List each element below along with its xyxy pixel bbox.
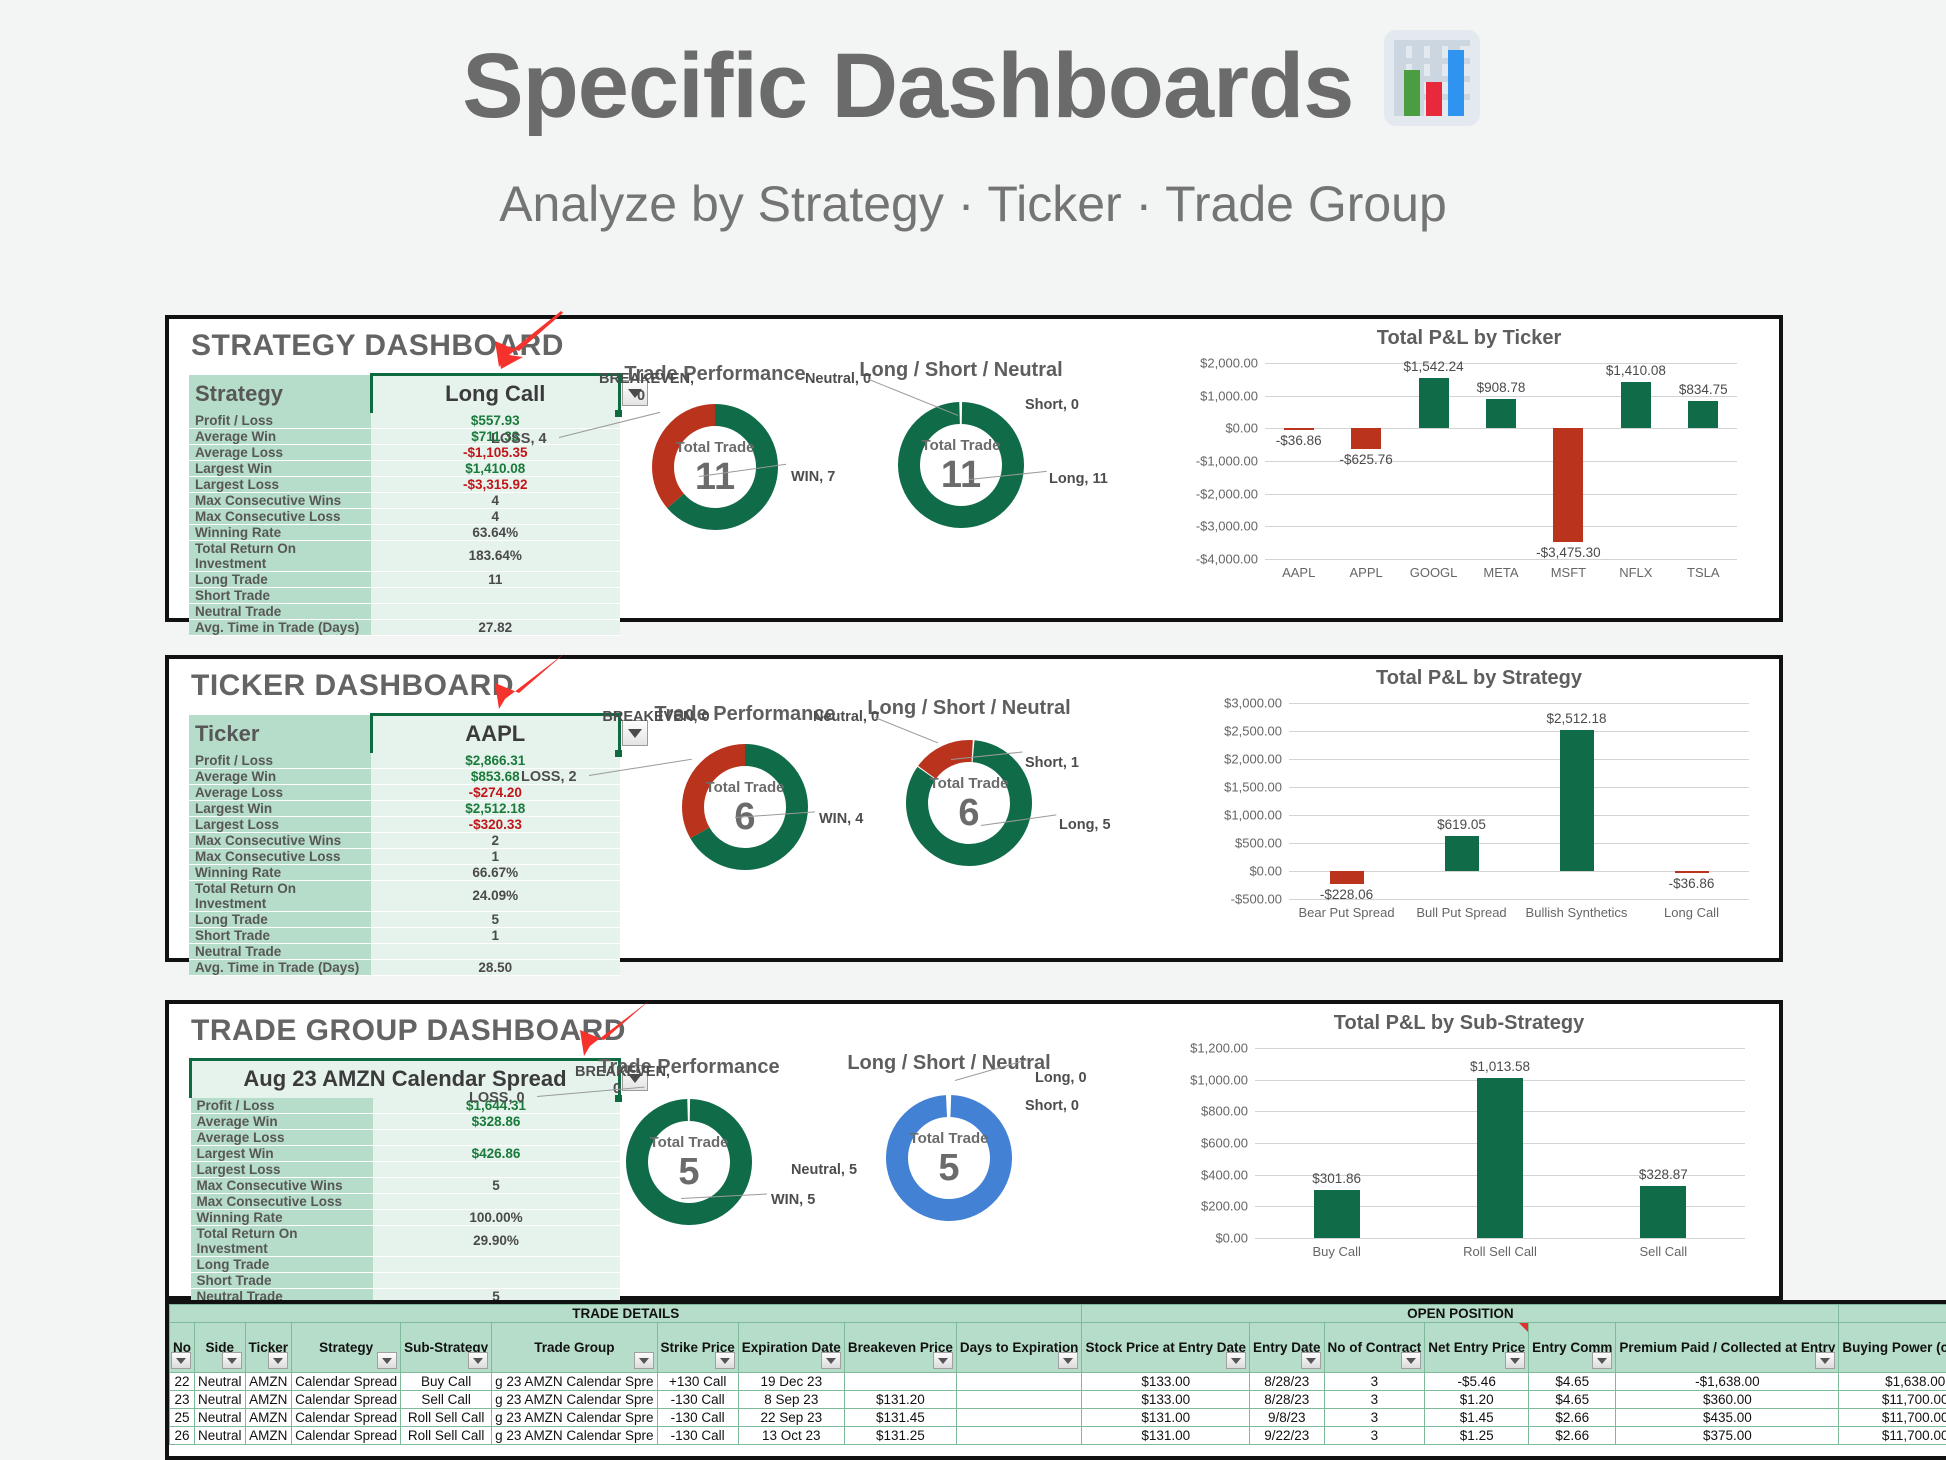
- table-row: 22NeutralAMZNCalendar SpreadBuy Callg 23…: [170, 1373, 1946, 1391]
- group-header: OPEN POSITION: [1082, 1305, 1839, 1323]
- stat-value: 29.90%: [373, 1225, 620, 1256]
- pl-by-strategy-chart: Total P&L by Strategy $3,000.00$2,500.00…: [1179, 667, 1779, 957]
- column-header-14: Net Entry Price: [1425, 1323, 1529, 1373]
- table-cell: 8 Sep 23: [738, 1391, 844, 1409]
- filter-dropdown-icon[interactable]: [171, 1352, 191, 1369]
- bar-value-label: $908.78: [1477, 380, 1526, 395]
- table-row: Average Win$711.33: [189, 428, 620, 444]
- stat-value: 4: [371, 508, 620, 524]
- table-cell: [956, 1391, 1082, 1409]
- table-row: Largest Loss-$320.33: [189, 816, 620, 832]
- table-row: Short Trade1: [189, 927, 620, 943]
- filter-dropdown-icon[interactable]: [377, 1352, 397, 1369]
- stat-value: 183.64%: [371, 540, 620, 571]
- filter-dropdown-icon[interactable]: [222, 1352, 242, 1369]
- table-row: Avg. Time in Trade (Days)28.50: [189, 959, 620, 975]
- stat-label: Largest Win: [189, 460, 371, 476]
- stat-label: Max Consecutive Wins: [189, 492, 371, 508]
- table-row: Neutral Trade: [189, 603, 620, 619]
- label-breakeven: BREAKEVEN, 0: [599, 371, 683, 404]
- stat-label: Long Trade: [191, 1256, 373, 1272]
- y-axis-tick: $0.00: [1225, 421, 1258, 436]
- table-row: Max Consecutive Wins2: [189, 832, 620, 848]
- y-axis-tick: $1,200.00: [1190, 1041, 1248, 1056]
- table-cell: $435.00: [1616, 1409, 1839, 1427]
- y-axis-tick: $0.00: [1249, 864, 1282, 879]
- table-row: Long Trade5: [189, 911, 620, 927]
- stat-value: 28.50: [371, 959, 620, 975]
- donut-center-label: Total Trade: [922, 437, 1001, 454]
- stat-value: 1: [371, 927, 620, 943]
- table-cell: 13 Oct 23: [738, 1427, 844, 1445]
- donut-center-label: Total Trade: [930, 775, 1009, 792]
- strategy-lsn-donut: Total Trade 11: [891, 395, 1031, 535]
- table-row: 23NeutralAMZNCalendar SpreadSell Callg 2…: [170, 1391, 1946, 1409]
- table-cell: Neutral: [195, 1391, 246, 1409]
- table-row: 25NeutralAMZNCalendar SpreadRoll Sell Ca…: [170, 1409, 1946, 1427]
- gridline: [1289, 759, 1749, 760]
- donut-center-value: 11: [941, 456, 981, 494]
- y-axis-tick: -$3,000.00: [1196, 519, 1258, 534]
- bar: [1486, 399, 1516, 429]
- stat-label: Total Return On Investment: [189, 540, 371, 571]
- x-axis-tick: Bear Put Spread: [1298, 905, 1394, 920]
- bar: [1314, 1190, 1360, 1238]
- column-header-17: Buying Power (capital): [1839, 1323, 1946, 1373]
- group-lsn-donut: Total Trade 5: [879, 1088, 1019, 1228]
- table-row: Total Return On Investment183.64%: [189, 540, 620, 571]
- table-cell: $131.20: [844, 1391, 956, 1409]
- chart-title: Total P&L by Ticker: [1169, 327, 1769, 350]
- stat-label: Winning Rate: [189, 864, 371, 880]
- x-axis-tick: GOOGL: [1410, 565, 1458, 580]
- stat-value: [371, 943, 620, 959]
- y-axis-tick: $400.00: [1201, 1167, 1248, 1182]
- stat-label: Avg. Time in Trade (Days): [189, 619, 371, 635]
- filter-dropdown-icon[interactable]: [1058, 1352, 1078, 1369]
- bar: [1477, 1078, 1523, 1238]
- x-axis-tick: Bull Put Spread: [1416, 905, 1506, 920]
- table-cell: g 23 AMZN Calendar Spre: [492, 1427, 657, 1445]
- x-axis-tick: TSLA: [1687, 565, 1720, 580]
- x-axis-tick: Buy Call: [1312, 1244, 1360, 1259]
- strategy-dashboard-title: STRATEGY DASHBOARD: [191, 329, 564, 363]
- filter-dropdown-icon[interactable]: [1226, 1352, 1246, 1369]
- table-row: Max Consecutive Loss1: [189, 848, 620, 864]
- stat-label: Long Trade: [189, 571, 371, 587]
- stat-label: Largest Loss: [189, 476, 371, 492]
- stat-value: 27.82: [371, 619, 620, 635]
- stat-label: Total Return On Investment: [191, 1225, 373, 1256]
- stat-value: $328.86: [373, 1113, 620, 1129]
- table-cell: $131.45: [844, 1409, 956, 1427]
- x-axis-tick: Sell Call: [1639, 1244, 1687, 1259]
- gridline: [1265, 526, 1737, 527]
- donut-center-label: Total Trade: [676, 439, 755, 456]
- stat-label: Largest Loss: [189, 816, 371, 832]
- x-axis-tick: Long Call: [1664, 905, 1719, 920]
- table-row: Average Loss-$274.20: [189, 784, 620, 800]
- stat-label: Largest Win: [191, 1145, 373, 1161]
- stat-value: 24.09%: [371, 880, 620, 911]
- table-cell: -$5.46: [1425, 1373, 1529, 1391]
- table-cell: $1.45: [1425, 1409, 1529, 1427]
- label-short: Short, 0: [1025, 1098, 1079, 1114]
- bar-value-label: -$625.76: [1339, 452, 1392, 467]
- x-axis-tick: AAPL: [1282, 565, 1315, 580]
- stat-value: [373, 1193, 620, 1209]
- label-loss: LOSS, 2: [521, 769, 577, 785]
- table-cell: -$1,638.00: [1616, 1373, 1839, 1391]
- table-row: Avg. Time in Trade (Days)27.82: [189, 619, 620, 635]
- table-cell: 3: [1324, 1427, 1425, 1445]
- trade-details-table[interactable]: TRADE DETAILSOPEN POSITIONPNoSideTickerS…: [165, 1300, 1946, 1460]
- gridline: [1255, 1238, 1745, 1239]
- label-loss: LOSS, 4: [491, 431, 547, 447]
- table-row: Largest Win$1,410.08: [189, 460, 620, 476]
- stat-value: 11: [371, 571, 620, 587]
- strategy-selector-value[interactable]: Long Call: [371, 375, 620, 413]
- stat-label: Avg. Time in Trade (Days): [189, 959, 371, 975]
- table-cell: $1,638.00: [1839, 1373, 1946, 1391]
- chart-plot-area: $2,000.00$1,000.00$0.00-$1,000.00-$2,000…: [1265, 363, 1737, 559]
- donut-center-value: 6: [958, 794, 979, 832]
- column-header-13: No of Contract: [1324, 1323, 1425, 1373]
- table-row: Long Trade: [191, 1256, 620, 1272]
- donut-center-value: 5: [678, 1153, 699, 1191]
- pl-by-ticker-chart: Total P&L by Ticker $2,000.00$1,000.00$0…: [1169, 327, 1769, 617]
- gridline: [1265, 396, 1737, 397]
- stat-value: [371, 587, 620, 603]
- table-row: Neutral Trade: [189, 943, 620, 959]
- bar-chart-icon: [1380, 26, 1484, 135]
- label-long: Long, 11: [1049, 471, 1108, 487]
- label-short: Short, 1: [1025, 755, 1079, 771]
- table-row: Short Trade: [191, 1272, 620, 1288]
- strategy-lsn-title: Long / Short / Neutral: [841, 359, 1081, 382]
- table-cell: 3: [1324, 1391, 1425, 1409]
- table-cell: 8/28/23: [1250, 1373, 1325, 1391]
- stat-value: [371, 603, 620, 619]
- bar-value-label: $301.86: [1312, 1171, 1361, 1186]
- y-axis-tick: $600.00: [1201, 1136, 1248, 1151]
- stat-label: Profit / Loss: [191, 1098, 373, 1114]
- stat-label: Largest Win: [189, 800, 371, 816]
- column-header-1: No: [170, 1323, 195, 1373]
- table-cell: [956, 1373, 1082, 1391]
- column-header-12: Entry Date: [1250, 1323, 1325, 1373]
- comment-flag-icon: [1519, 1323, 1528, 1332]
- y-axis-tick: $2,000.00: [1224, 752, 1282, 767]
- filter-dropdown-icon[interactable]: [933, 1352, 953, 1369]
- stat-label: Max Consecutive Loss: [189, 848, 371, 864]
- stat-label: Max Consecutive Loss: [191, 1193, 373, 1209]
- y-axis-tick: -$2,000.00: [1196, 486, 1258, 501]
- table-cell: $11,700.00: [1839, 1427, 1946, 1445]
- stat-label: Max Consecutive Loss: [189, 508, 371, 524]
- bar-value-label: $619.05: [1437, 817, 1486, 832]
- bar: [1560, 730, 1594, 871]
- table-row: Largest Loss-$3,315.92: [189, 476, 620, 492]
- chart-plot-area: $1,200.00$1,000.00$800.00$600.00$400.00$…: [1255, 1048, 1745, 1238]
- ticker-trade-performance-donut: Total Trade 6: [675, 737, 815, 877]
- stat-value: [373, 1129, 620, 1145]
- gridline: [1289, 787, 1749, 788]
- group-stats-table: Aug 23 AMZN Calendar Spread Profit / Los…: [189, 1058, 621, 1321]
- stat-value: $557.93: [371, 413, 620, 429]
- bar: [1675, 871, 1709, 873]
- group-lsn-title: Long / Short / Neutral: [829, 1052, 1069, 1075]
- bar: [1553, 428, 1583, 542]
- table-cell: $133.00: [1082, 1373, 1250, 1391]
- column-header-4: Strategy: [292, 1323, 401, 1373]
- strategy-selector-row: Strategy Long Call: [189, 375, 620, 413]
- table-row: Largest Loss: [191, 1161, 620, 1177]
- filter-dropdown-icon[interactable]: [715, 1352, 735, 1369]
- stat-value: 66.67%: [371, 864, 620, 880]
- stat-label: Max Consecutive Wins: [191, 1177, 373, 1193]
- y-axis-tick: $500.00: [1235, 836, 1282, 851]
- strategy-stats-table: Strategy Long Call Profit / Loss$557.93 …: [189, 373, 621, 636]
- table-cell: Neutral: [195, 1409, 246, 1427]
- stat-value: $2,866.31: [371, 753, 620, 769]
- label-neutral: Neutral, 5: [789, 1162, 859, 1179]
- table-row: Winning Rate63.64%: [189, 524, 620, 540]
- bar-value-label: $2,512.18: [1546, 711, 1606, 726]
- column-header-2: Side: [195, 1323, 246, 1373]
- stat-label: Winning Rate: [191, 1209, 373, 1225]
- table-row: Winning Rate100.00%: [191, 1209, 620, 1225]
- table-cell: Neutral: [195, 1427, 246, 1445]
- table-cell: Neutral: [195, 1373, 246, 1391]
- page-title: Specific Dashboards: [462, 38, 1353, 135]
- chart-plot-area: $3,000.00$2,500.00$2,000.00$1,500.00$1,0…: [1289, 703, 1749, 899]
- table-cell: [956, 1409, 1082, 1427]
- ticker-selector-text: AAPL: [465, 721, 525, 746]
- stat-label: Max Consecutive Wins: [189, 832, 371, 848]
- group-selector-row: Aug 23 AMZN Calendar Spread: [191, 1060, 620, 1098]
- label-long: Long, 0: [1035, 1070, 1087, 1086]
- bar-value-label: $1,410.08: [1606, 363, 1666, 378]
- x-axis-tick: NFLX: [1619, 565, 1652, 580]
- table-cell: Calendar Spread: [292, 1409, 401, 1427]
- filter-dropdown-icon[interactable]: [1592, 1352, 1612, 1369]
- label-win: WIN, 4: [819, 811, 863, 827]
- table-cell: $11,700.00: [1839, 1391, 1946, 1409]
- stat-label: Short Trade: [189, 927, 371, 943]
- x-axis-tick: MSFT: [1551, 565, 1586, 580]
- table-cell: 3: [1324, 1373, 1425, 1391]
- gridline: [1289, 843, 1749, 844]
- bar: [1445, 836, 1479, 871]
- table-cell: -130 Call: [657, 1427, 738, 1445]
- column-header-3: Ticker: [245, 1323, 292, 1373]
- label-short: Short, 0: [1025, 397, 1079, 413]
- table-cell: Sell Call: [401, 1391, 492, 1409]
- ticker-dashboard-title: TICKER DASHBOARD: [191, 669, 514, 703]
- table-cell: $4.65: [1529, 1391, 1616, 1409]
- y-axis-tick: $200.00: [1201, 1199, 1248, 1214]
- table-row: 26NeutralAMZNCalendar SpreadRoll Sell Ca…: [170, 1427, 1946, 1445]
- stat-label: Average Win: [189, 768, 371, 784]
- gridline: [1265, 494, 1737, 495]
- filter-dropdown-icon[interactable]: [1505, 1352, 1525, 1369]
- table-cell: AMZN: [245, 1391, 292, 1409]
- table-cell: 25: [170, 1409, 195, 1427]
- bar: [1330, 871, 1364, 884]
- table-row: Short Trade: [189, 587, 620, 603]
- donut-center-label: Total Trade: [910, 1130, 989, 1147]
- stat-label: Neutral Trade: [189, 603, 371, 619]
- stat-value: $426.86: [373, 1145, 620, 1161]
- filter-dropdown-icon[interactable]: [1815, 1352, 1835, 1369]
- trade-group-dashboard-panel: TRADE GROUP DASHBOARD Aug 23 AMZN Calend…: [165, 1000, 1783, 1300]
- stat-label: Average Loss: [191, 1129, 373, 1145]
- label-long: Long, 5: [1059, 817, 1111, 833]
- ticker-dashboard-panel: TICKER DASHBOARD Ticker AAPL Profit / Lo…: [165, 655, 1783, 962]
- group-selector-text: Aug 23 AMZN Calendar Spread: [243, 1066, 566, 1091]
- ticker-selector-label: Ticker: [189, 715, 371, 753]
- column-header-6: Trade Group: [492, 1323, 657, 1373]
- gridline: [1255, 1048, 1745, 1049]
- stat-value: -$274.20: [371, 784, 620, 800]
- table-cell: Calendar Spread: [292, 1391, 401, 1409]
- table-cell: $133.00: [1082, 1391, 1250, 1409]
- stat-value: -$320.33: [371, 816, 620, 832]
- gridline: [1289, 703, 1749, 704]
- table-row: Total Return On Investment24.09%: [189, 880, 620, 911]
- page-subtitle: Analyze by Strategy · Ticker · Trade Gro…: [0, 175, 1946, 233]
- selection-handle: [615, 750, 622, 757]
- stat-value: $2,512.18: [371, 800, 620, 816]
- table-cell: $375.00: [1616, 1427, 1839, 1445]
- table-cell: Calendar Spread: [292, 1373, 401, 1391]
- filter-dropdown-icon[interactable]: [468, 1352, 488, 1369]
- stat-value: [373, 1161, 620, 1177]
- table-cell: Roll Sell Call: [401, 1427, 492, 1445]
- column-header-15: Entry Comm: [1529, 1323, 1616, 1373]
- y-axis-tick: $2,000.00: [1200, 356, 1258, 371]
- donut-center-value: 5: [938, 1149, 959, 1187]
- table-cell: AMZN: [245, 1409, 292, 1427]
- table-row: Total Return On Investment29.90%: [191, 1225, 620, 1256]
- table-cell: $11,700.00: [1839, 1409, 1946, 1427]
- table-cell: [956, 1427, 1082, 1445]
- stat-label: Total Return On Investment: [189, 880, 371, 911]
- table-cell: g 23 AMZN Calendar Spre: [492, 1409, 657, 1427]
- trade-details-grid: TRADE DETAILSOPEN POSITIONPNoSideTickerS…: [169, 1304, 1946, 1445]
- y-axis-tick: -$4,000.00: [1196, 552, 1258, 567]
- table-cell: Roll Sell Call: [401, 1409, 492, 1427]
- stat-value: 4: [371, 492, 620, 508]
- stat-value: 1: [371, 848, 620, 864]
- stat-label: Average Loss: [189, 784, 371, 800]
- group-selector-value[interactable]: Aug 23 AMZN Calendar Spread: [191, 1060, 620, 1098]
- gridline: [1289, 731, 1749, 732]
- stat-label: Short Trade: [191, 1272, 373, 1288]
- table-cell: $4.65: [1529, 1373, 1616, 1391]
- table-cell: [844, 1373, 956, 1391]
- table-cell: +130 Call: [657, 1373, 738, 1391]
- table-row: Average Loss: [191, 1129, 620, 1145]
- label-breakeven: BREAKEVEN, 0: [601, 709, 711, 726]
- column-header-9: Breakeven Price: [844, 1323, 956, 1373]
- page-header: Specific Dashboards Analyze by Strategy …: [0, 0, 1946, 233]
- y-axis-tick: $2,500.00: [1224, 724, 1282, 739]
- table-cell: 8/28/23: [1250, 1391, 1325, 1409]
- stat-label: Average Win: [191, 1113, 373, 1129]
- stat-value: 63.64%: [371, 524, 620, 540]
- ticker-selector-value[interactable]: AAPL: [371, 715, 620, 753]
- table-cell: $360.00: [1616, 1391, 1839, 1409]
- strategy-selector-label: Strategy: [189, 375, 371, 413]
- bar-value-label: $1,542.24: [1404, 359, 1464, 374]
- table-cell: Calendar Spread: [292, 1427, 401, 1445]
- stat-label: Average Loss: [189, 444, 371, 460]
- bar: [1284, 428, 1314, 430]
- stat-label: Short Trade: [189, 587, 371, 603]
- label-loss: LOSS, 0: [469, 1090, 525, 1106]
- table-cell: -130 Call: [657, 1391, 738, 1409]
- stat-label: Profit / Loss: [189, 413, 371, 429]
- bar: [1688, 401, 1718, 428]
- bar-value-label: $1,013.58: [1470, 1059, 1530, 1074]
- table-cell: 26: [170, 1427, 195, 1445]
- table-row: Average Win$328.86: [191, 1113, 620, 1129]
- filter-dropdown-icon[interactable]: [821, 1352, 841, 1369]
- stat-label: Winning Rate: [189, 524, 371, 540]
- filter-dropdown-icon[interactable]: [268, 1352, 288, 1369]
- stat-label: Neutral Trade: [189, 943, 371, 959]
- donut-center-label: Total Trade: [650, 1134, 729, 1151]
- stat-value: 5: [371, 911, 620, 927]
- chart-title: Total P&L by Strategy: [1179, 667, 1779, 690]
- y-axis-tick: $1,000.00: [1224, 808, 1282, 823]
- table-row: Max Consecutive Wins4: [189, 492, 620, 508]
- pl-by-substrategy-chart: Total P&L by Sub-Strategy $1,200.00$1,00…: [1139, 1012, 1779, 1302]
- table-cell: -130 Call: [657, 1409, 738, 1427]
- table-cell: $131.00: [1082, 1427, 1250, 1445]
- table-row: Max Consecutive Loss: [191, 1193, 620, 1209]
- y-axis-tick: $800.00: [1201, 1104, 1248, 1119]
- column-header-16: Premium Paid / Collected at Entry: [1616, 1323, 1839, 1373]
- x-axis-tick: APPL: [1350, 565, 1383, 580]
- table-row: Largest Win$426.86: [191, 1145, 620, 1161]
- y-axis-tick: $3,000.00: [1224, 696, 1282, 711]
- filter-dropdown-icon[interactable]: [1301, 1352, 1321, 1369]
- filter-dropdown-icon[interactable]: [634, 1352, 654, 1369]
- column-header-10: Days to Expiration: [956, 1323, 1082, 1373]
- gridline: [1265, 559, 1737, 560]
- bar: [1351, 428, 1381, 448]
- table-row: Average Loss-$1,105.35: [189, 444, 620, 460]
- table-cell: Buy Call: [401, 1373, 492, 1391]
- table-cell: 3: [1324, 1409, 1425, 1427]
- gridline: [1289, 815, 1749, 816]
- stat-label: Long Trade: [189, 911, 371, 927]
- stat-value: [373, 1256, 620, 1272]
- bar-value-label: -$36.86: [1276, 433, 1322, 448]
- filter-dropdown-icon[interactable]: [1401, 1352, 1421, 1369]
- table-cell: $131.25: [844, 1427, 956, 1445]
- stat-label: Profit / Loss: [189, 753, 371, 769]
- strategy-dashboard-panel: STRATEGY DASHBOARD Strategy Long Call Pr…: [165, 315, 1783, 622]
- group-trade-performance-donut: Total Trade 5: [619, 1092, 759, 1232]
- group-header: P: [1839, 1305, 1946, 1323]
- table-cell: 9/22/23: [1250, 1427, 1325, 1445]
- column-header-11: Stock Price at Entry Date: [1082, 1323, 1250, 1373]
- table-cell: $131.00: [1082, 1409, 1250, 1427]
